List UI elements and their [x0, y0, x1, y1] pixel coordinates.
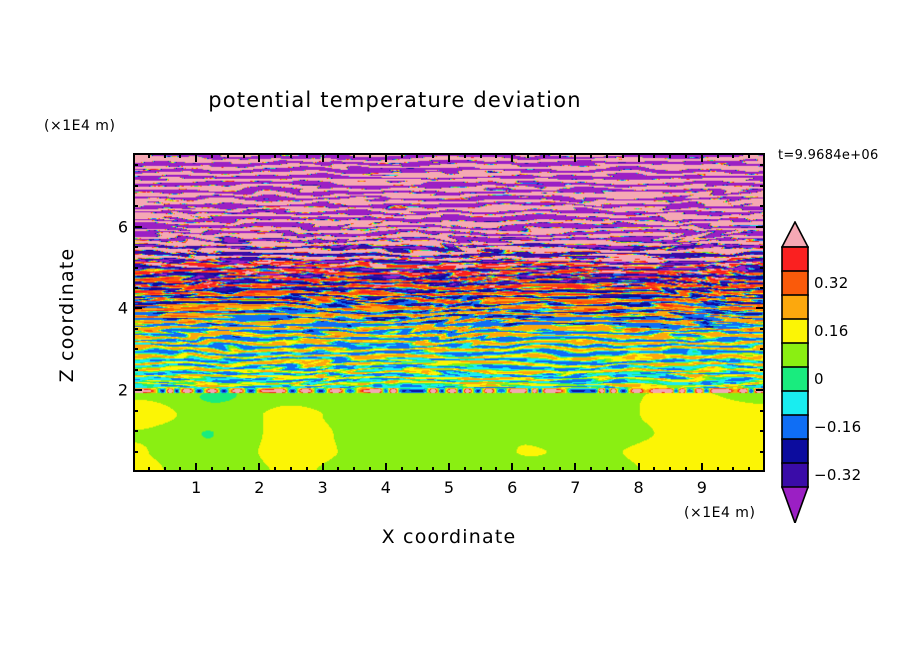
y-minor-tick: [133, 287, 138, 289]
y-minor-tick-right: [760, 185, 765, 187]
x-minor-tick: [590, 467, 592, 472]
x-minor-tick: [179, 467, 181, 472]
x-minor-tick: [211, 467, 213, 472]
x-major-tick: [638, 463, 640, 472]
x-tick-label: 7: [570, 478, 580, 497]
x-tick-label: 6: [507, 478, 517, 497]
x-major-tick-top: [448, 153, 450, 162]
x-minor-tick: [243, 467, 245, 472]
x-minor-tick-top: [337, 153, 339, 158]
x-minor-tick-top: [369, 153, 371, 158]
y-minor-tick-right: [760, 246, 765, 248]
x-major-tick-top: [195, 153, 197, 162]
colorbar-tick-label: −0.32: [814, 466, 861, 484]
x-minor-tick: [653, 467, 655, 472]
x-minor-tick-top: [559, 153, 561, 158]
x-major-tick: [258, 463, 260, 472]
y-minor-tick-right: [760, 328, 765, 330]
x-minor-tick: [274, 467, 276, 472]
x-major-tick: [511, 463, 513, 472]
y-tick-label: 2: [104, 381, 128, 400]
y-major-tick: [133, 389, 142, 391]
x-minor-tick-top: [464, 153, 466, 158]
x-minor-tick: [732, 467, 734, 472]
x-tick-label: 2: [254, 478, 264, 497]
y-minor-tick-right: [760, 410, 765, 412]
y-minor-tick: [133, 328, 138, 330]
x-minor-tick-top: [732, 153, 734, 158]
x-major-tick-top: [511, 153, 513, 162]
x-minor-tick-top: [306, 153, 308, 158]
y-major-tick-right: [756, 307, 765, 309]
x-minor-tick-top: [480, 153, 482, 158]
x-minor-tick: [685, 467, 687, 472]
y-axis-unit-label: (×1E4 m): [44, 118, 115, 134]
x-minor-tick-top: [748, 153, 750, 158]
x-axis-title: X coordinate: [133, 526, 765, 548]
x-major-tick: [448, 463, 450, 472]
x-major-tick-top: [574, 153, 576, 162]
x-major-tick: [574, 463, 576, 472]
x-minor-tick-top: [227, 153, 229, 158]
colorbar-tick-label: −0.16: [814, 418, 861, 436]
x-major-tick-top: [385, 153, 387, 162]
x-minor-tick: [559, 467, 561, 472]
x-minor-tick-top: [211, 153, 213, 158]
x-minor-tick-top: [401, 153, 403, 158]
x-minor-tick: [337, 467, 339, 472]
x-minor-tick-top: [653, 153, 655, 158]
x-major-tick: [385, 463, 387, 472]
y-minor-tick-right: [760, 267, 765, 269]
x-minor-tick: [480, 467, 482, 472]
x-minor-tick: [717, 467, 719, 472]
x-minor-tick: [416, 467, 418, 472]
y-major-tick-right: [756, 226, 765, 228]
x-minor-tick: [748, 467, 750, 472]
x-minor-tick-top: [179, 153, 181, 158]
axis-tick-layer: [133, 153, 765, 472]
colorbar-tick-label: 0: [814, 370, 824, 388]
y-tick-label: 6: [104, 217, 128, 236]
y-minor-tick: [133, 348, 138, 350]
y-minor-tick: [133, 410, 138, 412]
y-tick-label: 4: [104, 299, 128, 318]
x-minor-tick-top: [416, 153, 418, 158]
time-annotation: t=9.9684e+06: [778, 148, 879, 163]
y-minor-tick: [133, 205, 138, 207]
y-minor-tick: [133, 267, 138, 269]
x-minor-tick: [543, 467, 545, 472]
y-axis-title: Z coordinate: [56, 200, 78, 430]
x-minor-tick-top: [243, 153, 245, 158]
x-minor-tick: [495, 467, 497, 472]
x-minor-tick: [622, 467, 624, 472]
x-major-tick-top: [258, 153, 260, 162]
x-minor-tick-top: [353, 153, 355, 158]
x-tick-label: 9: [697, 478, 707, 497]
y-minor-tick: [133, 246, 138, 248]
y-minor-tick-right: [760, 451, 765, 453]
x-minor-tick-top: [432, 153, 434, 158]
x-minor-tick-top: [717, 153, 719, 158]
x-tick-label: 5: [444, 478, 454, 497]
x-minor-tick-top: [527, 153, 529, 158]
x-minor-tick-top: [685, 153, 687, 158]
figure-canvas: potential temperature deviation (×1E4 m)…: [0, 0, 904, 654]
page-title: potential temperature deviation: [0, 88, 790, 112]
x-minor-tick: [290, 467, 292, 472]
y-minor-tick-right: [760, 205, 765, 207]
x-major-tick-top: [322, 153, 324, 162]
x-tick-label: 3: [318, 478, 328, 497]
y-major-tick: [133, 307, 142, 309]
x-minor-tick: [369, 467, 371, 472]
y-minor-tick-right: [760, 287, 765, 289]
y-minor-tick: [133, 369, 138, 371]
x-minor-tick-top: [148, 153, 150, 158]
x-major-tick-top: [638, 153, 640, 162]
x-axis-unit-label: (×1E4 m): [684, 505, 755, 521]
x-minor-tick: [464, 467, 466, 472]
x-major-tick: [322, 463, 324, 472]
y-minor-tick: [133, 185, 138, 187]
y-minor-tick: [133, 430, 138, 432]
colorbar-tick-label: 0.32: [814, 274, 849, 292]
x-minor-tick-top: [543, 153, 545, 158]
y-major-tick: [133, 226, 142, 228]
x-minor-tick: [148, 467, 150, 472]
y-minor-tick: [133, 451, 138, 453]
x-major-tick: [195, 463, 197, 472]
x-minor-tick: [606, 467, 608, 472]
x-tick-label: 1: [191, 478, 201, 497]
y-minor-tick-right: [760, 348, 765, 350]
x-tick-label: 4: [381, 478, 391, 497]
colorbar: [781, 221, 809, 523]
colorbar-swatches: [781, 221, 809, 523]
y-minor-tick-right: [760, 430, 765, 432]
colorbar-tick-label: 0.16: [814, 322, 849, 340]
x-minor-tick: [353, 467, 355, 472]
y-minor-tick: [133, 164, 138, 166]
x-minor-tick-top: [495, 153, 497, 158]
x-minor-tick: [669, 467, 671, 472]
x-major-tick: [701, 463, 703, 472]
y-major-tick-right: [756, 389, 765, 391]
x-minor-tick-top: [290, 153, 292, 158]
x-minor-tick: [164, 467, 166, 472]
x-major-tick-top: [701, 153, 703, 162]
x-minor-tick: [306, 467, 308, 472]
x-minor-tick-top: [622, 153, 624, 158]
x-minor-tick: [227, 467, 229, 472]
x-minor-tick-top: [669, 153, 671, 158]
x-minor-tick-top: [606, 153, 608, 158]
x-minor-tick: [432, 467, 434, 472]
x-minor-tick-top: [164, 153, 166, 158]
y-minor-tick-right: [760, 164, 765, 166]
y-minor-tick-right: [760, 369, 765, 371]
x-minor-tick: [527, 467, 529, 472]
x-minor-tick: [401, 467, 403, 472]
x-tick-label: 8: [634, 478, 644, 497]
x-minor-tick-top: [590, 153, 592, 158]
x-minor-tick-top: [274, 153, 276, 158]
